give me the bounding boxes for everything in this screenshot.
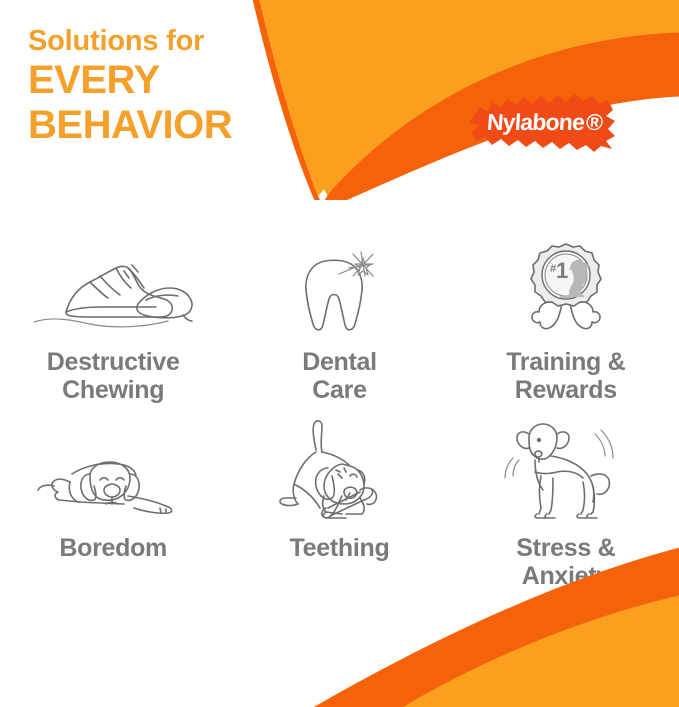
anxious-shaking-dog-icon — [491, 424, 641, 524]
puppy-chewing-toy-icon — [264, 424, 414, 524]
poster-canvas: Solutions for EVERY BEHAVIOR Nylabone® — [0, 0, 679, 707]
headline-line-3: BEHAVIOR — [28, 103, 358, 148]
headline-line-2: EVERY — [28, 58, 358, 103]
award-rosette-dog-icon: # 1 — [506, 238, 626, 338]
logo-wordmark: Nylabone® — [466, 88, 622, 156]
lying-bored-dog-icon — [28, 424, 198, 524]
behavior-item-teething[interactable]: Teething — [226, 424, 452, 606]
brand-name-text: Nylabone — [484, 109, 585, 136]
behavior-grid: Destructive Chewing Dental Care — [0, 238, 679, 606]
behavior-item-destructive-chewing[interactable]: Destructive Chewing — [0, 238, 226, 424]
behavior-item-dental-care[interactable]: Dental Care — [226, 238, 452, 424]
headline-block: Solutions for EVERY BEHAVIOR — [28, 26, 358, 148]
behavior-item-boredom[interactable]: Boredom — [0, 424, 226, 606]
behavior-item-training-rewards[interactable]: # 1 Training & Rewards — [453, 238, 679, 424]
behavior-label: Dental Care — [302, 348, 377, 404]
behavior-label: Teething — [290, 534, 390, 562]
behavior-label: Stress & Anxiety — [516, 534, 615, 590]
registered-mark: ® — [584, 109, 604, 136]
headline-line-1: Solutions for — [28, 26, 358, 56]
behavior-label: Training & Rewards — [506, 348, 625, 404]
behavior-label: Boredom — [59, 534, 167, 562]
behavior-item-stress-anxiety[interactable]: Stress & Anxiety — [453, 424, 679, 606]
behavior-label: Destructive Chewing — [47, 348, 180, 404]
nylabone-logo: Nylabone® — [466, 88, 622, 156]
chewed-shoe-icon — [28, 238, 198, 338]
badge-number: 1 — [556, 258, 568, 283]
sparkling-tooth-icon — [279, 238, 399, 338]
